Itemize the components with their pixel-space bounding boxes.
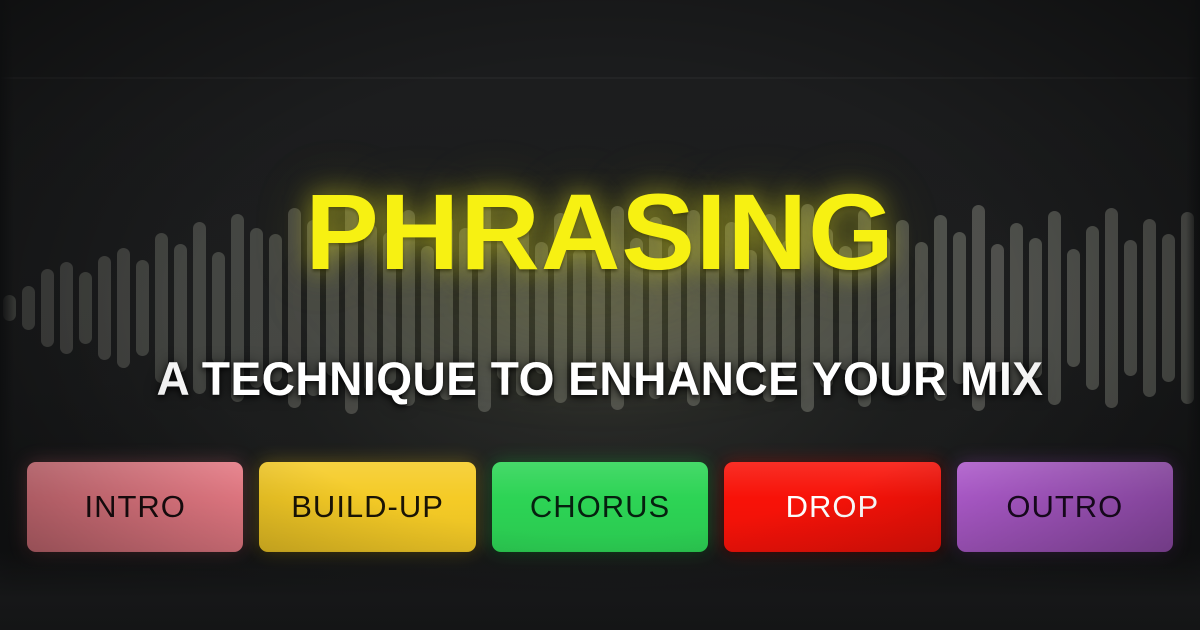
section-button-outro[interactable]: OUTRO [957,462,1173,552]
section-button-label: OUTRO [1006,489,1123,525]
section-button-drop[interactable]: DROP [724,462,940,552]
section-button-row: INTROBUILD-UPCHORUSDROPOUTRO [27,462,1173,552]
section-button-label: INTRO [84,489,185,525]
page-subtitle: A TECHNIQUE TO ENHANCE YOUR MIX [12,355,1188,402]
section-button-intro[interactable]: INTRO [27,462,243,552]
section-button-label: BUILD-UP [291,489,444,525]
band-divider [0,77,1200,79]
page-title: PHRASING [0,178,1200,286]
section-button-label: DROP [786,489,880,525]
section-button-label: CHORUS [530,489,670,525]
poster-canvas: PHRASING A TECHNIQUE TO ENHANCE YOUR MIX… [0,0,1200,630]
section-button-chorus[interactable]: CHORUS [492,462,708,552]
top-band [0,0,1200,77]
section-button-buildup[interactable]: BUILD-UP [259,462,475,552]
